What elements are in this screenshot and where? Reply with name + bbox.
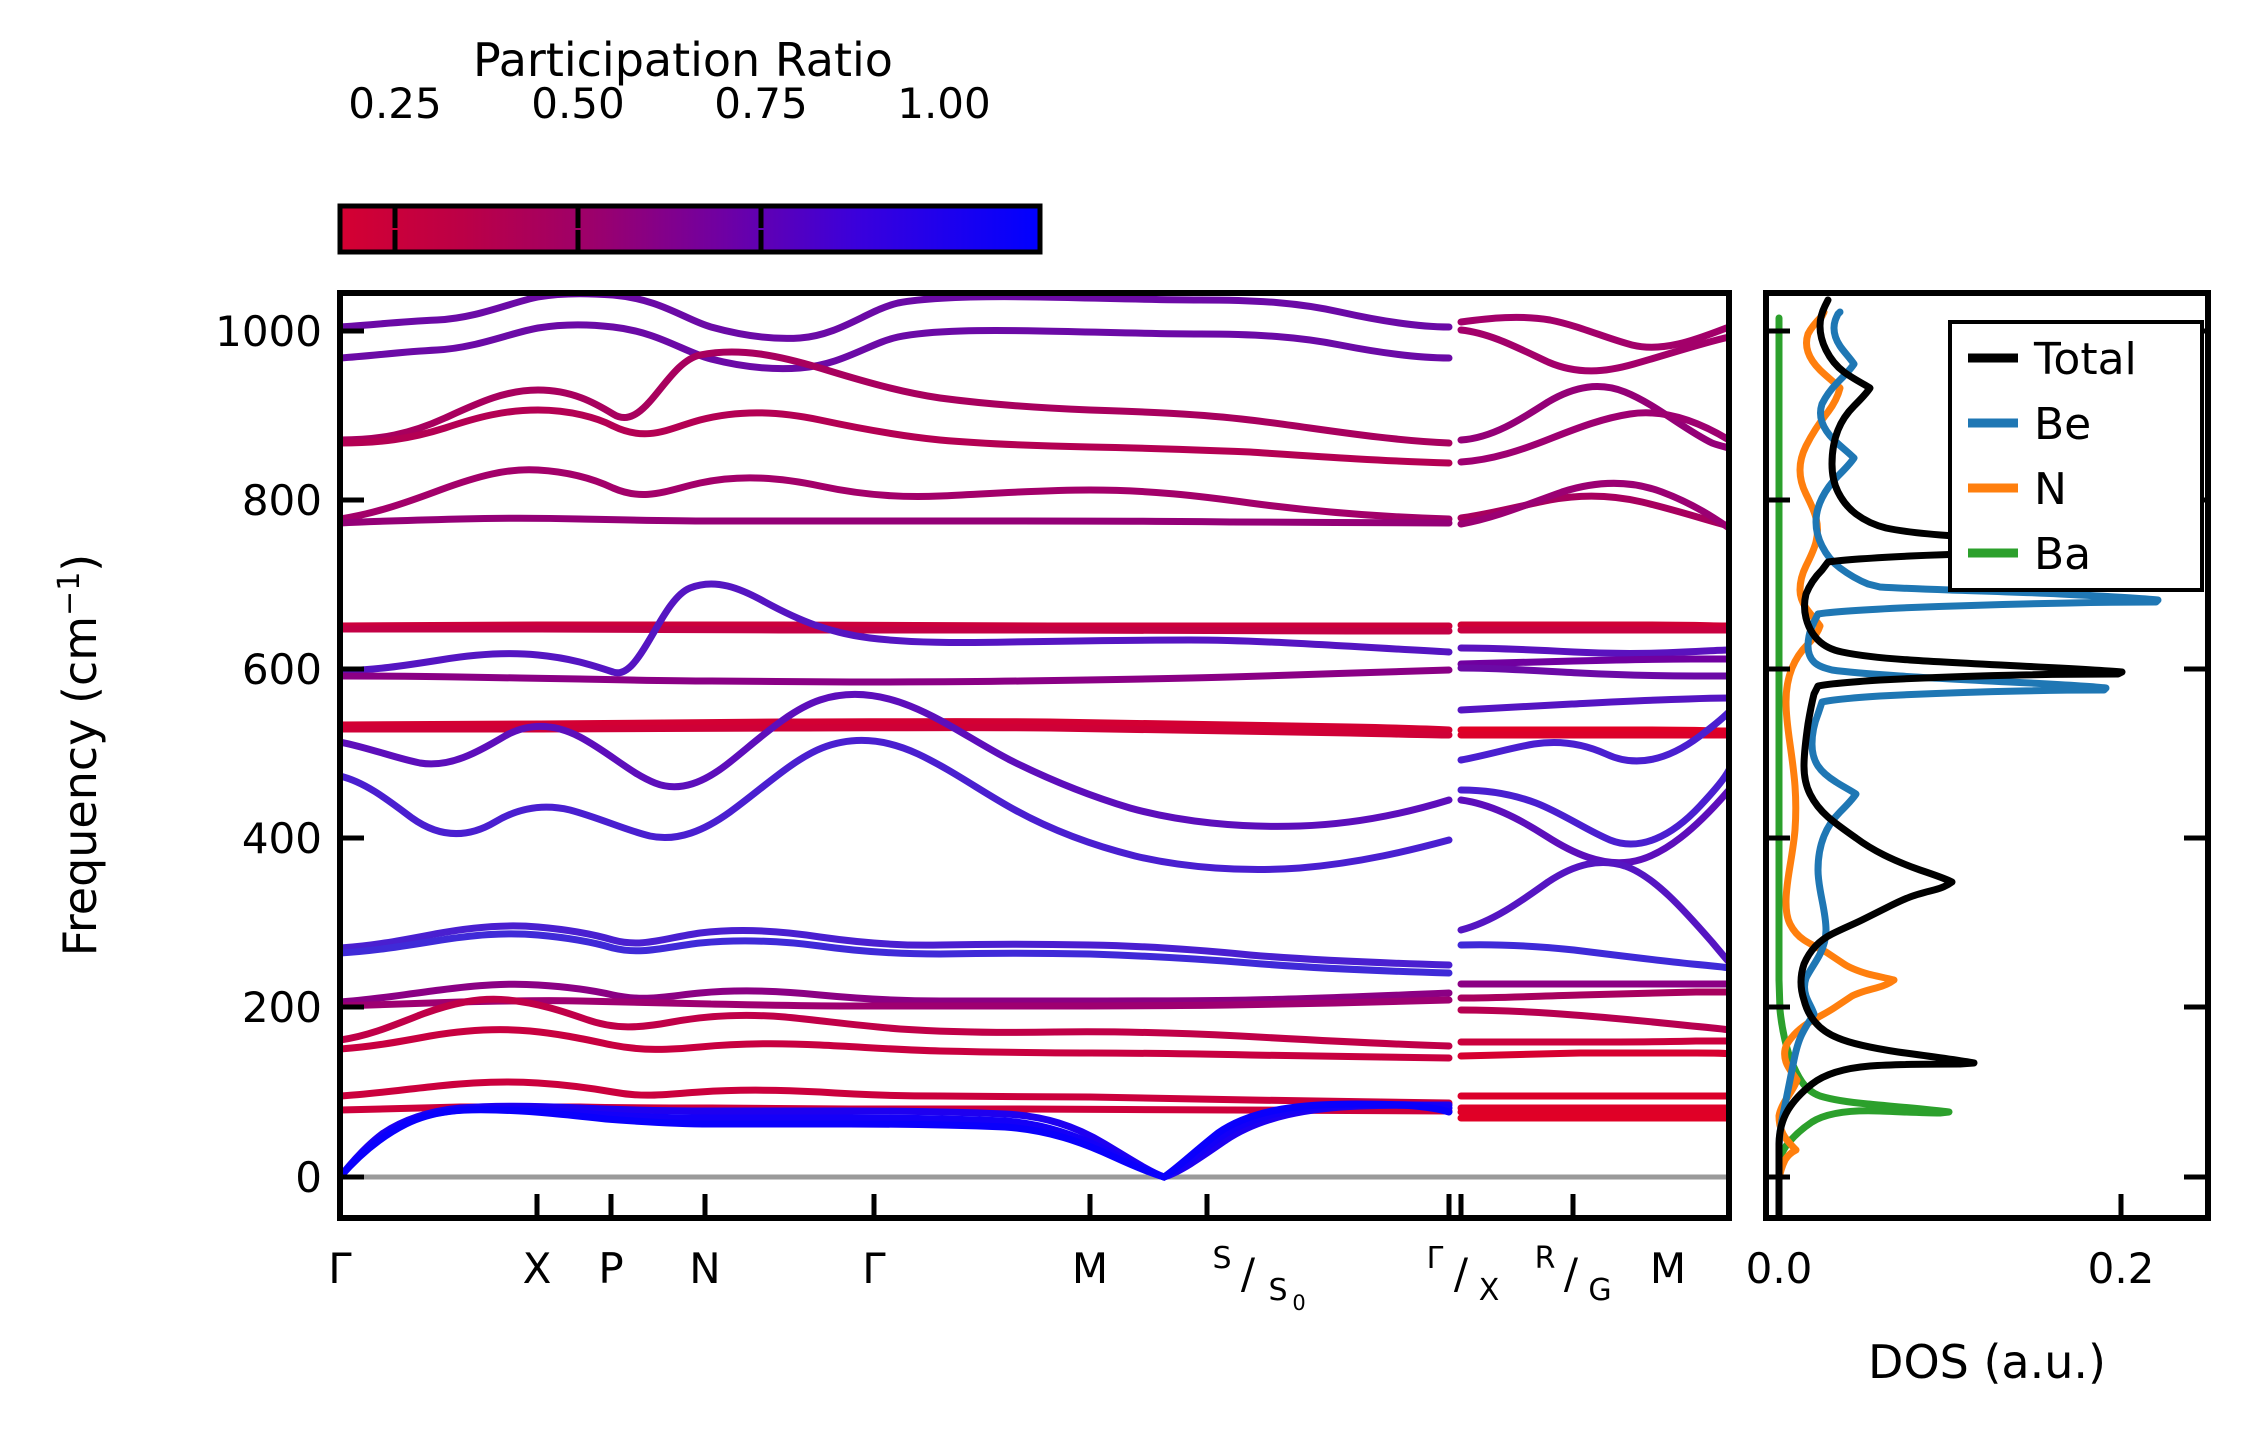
frac-rg-denominator: G: [1588, 1273, 1611, 1308]
frac-gx-slash: /: [1454, 1249, 1469, 1298]
legend-label-total: Total: [2033, 334, 2137, 385]
dos-legend[interactable]: Total Be N Ba: [1950, 322, 2202, 590]
legend-label-ba: Ba: [2034, 529, 2091, 580]
bands-ylabel-close: ): [53, 554, 107, 572]
frac-s-denominator: S: [1268, 1273, 1287, 1308]
dos-xlabel: DOS (a.u.): [1868, 1335, 2106, 1389]
bands-ytick-5: 1000: [215, 307, 322, 356]
legend-label-be: Be: [2034, 399, 2091, 450]
colorbar-tick-label-0: 0.25: [348, 79, 442, 128]
phonon-figure-svg: Participation Ratio 0.25 0.50 0.75 1.00: [0, 0, 2259, 1455]
frac-s-slash: /: [1241, 1249, 1256, 1298]
bands-xtick-label-gamma1: Γ: [328, 1244, 352, 1293]
figure-canvas: Participation Ratio 0.25 0.50 0.75 1.00: [0, 0, 2259, 1455]
bands-ytick-4: 800: [242, 476, 322, 525]
bands-ytick-2: 400: [242, 814, 322, 863]
bands-ylabel-exponent: −1: [52, 572, 87, 616]
bands-xtick-label-m1: M: [1072, 1244, 1108, 1293]
bands-xtick-label-x: X: [523, 1244, 552, 1293]
bands-xtick-label-m2: M: [1650, 1244, 1686, 1293]
bands-ytick-3: 600: [242, 645, 322, 694]
dos-xtick-0: 0.0: [1746, 1244, 1813, 1293]
bands-xtick-label-gamma2: Γ: [862, 1244, 886, 1293]
bands-ylabel-text: Frequency (cm: [53, 616, 107, 956]
colorbar-gradient-bar[interactable]: [340, 206, 1040, 252]
frac-rg-slash: /: [1564, 1249, 1579, 1298]
legend-label-n: N: [2034, 464, 2067, 515]
dos-xtick-1: 0.2: [2088, 1244, 2155, 1293]
bands-ytick-0: 0: [295, 1153, 322, 1202]
bands-xtick-label-p: P: [598, 1244, 623, 1293]
colorbar-tick-label-3: 1.00: [897, 79, 991, 128]
colorbar-tick-label-2: 0.75: [714, 79, 808, 128]
frac-s-numerator: S: [1212, 1241, 1231, 1276]
bands-xtick-label-n: N: [689, 1244, 720, 1293]
frac-gx-denominator: X: [1479, 1273, 1500, 1308]
frac-s-denominator-sub: 0: [1292, 1291, 1305, 1315]
bands-ytick-1: 200: [242, 983, 322, 1032]
colorbar-tick-label-1: 0.50: [531, 79, 625, 128]
frac-gx-numerator: Γ: [1427, 1241, 1444, 1276]
frac-rg-numerator: R: [1535, 1241, 1556, 1276]
